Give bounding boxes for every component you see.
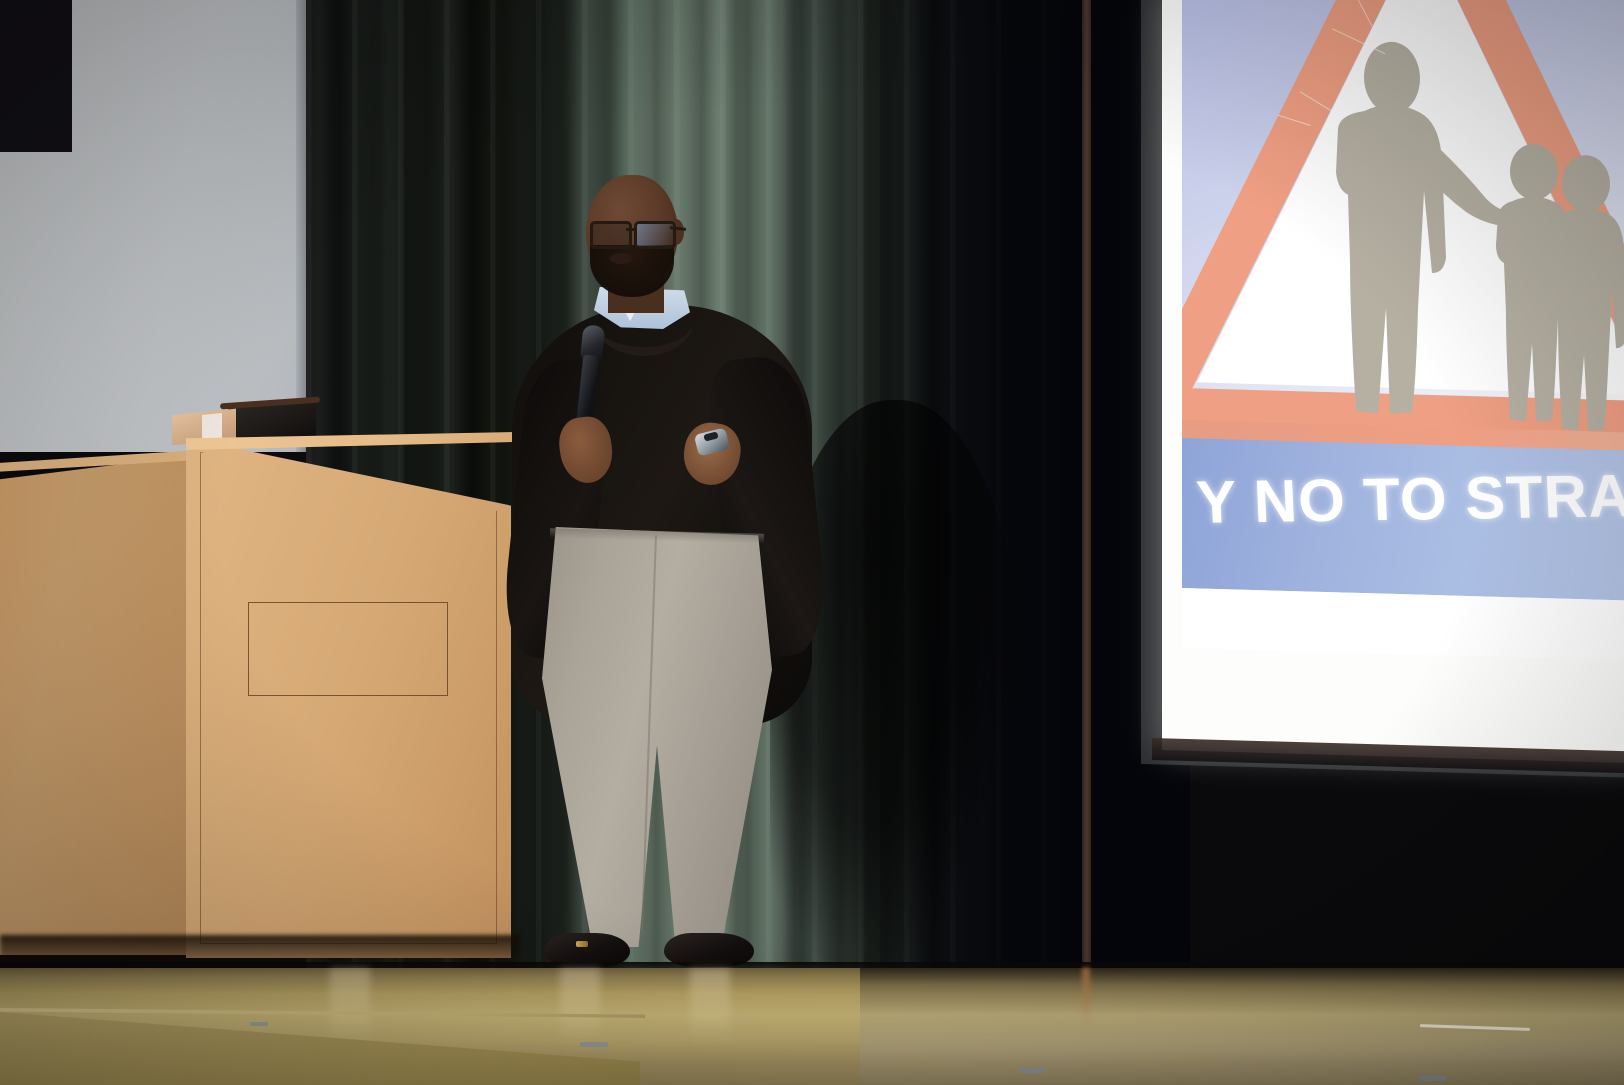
curtain-gap-strip: [1082, 0, 1091, 980]
podium-ground-shadow: [0, 935, 520, 965]
glasses-bridge: [626, 228, 636, 231]
slide-caption-text: Y NO TO STRA: [1195, 461, 1624, 537]
floor-mark: [1020, 1068, 1046, 1073]
projected-slide: Y NO TO STRA: [1182, 0, 1624, 661]
floor-highlight: [1420, 1024, 1530, 1031]
presenter-trousers: [542, 527, 772, 947]
presentation-photograph: Y NO TO STRA: [0, 0, 1624, 1085]
glasses-icon: [590, 221, 676, 245]
podium-plaque: [248, 602, 448, 696]
podium-front-inset-border: [200, 452, 497, 944]
shoe-buckle: [576, 941, 588, 947]
glasses-left-lens: [590, 221, 632, 249]
wall-opening: [0, 0, 72, 152]
floor-mark: [580, 1042, 608, 1047]
floor-mark: [1420, 1076, 1446, 1081]
presenter-mouth: [610, 253, 632, 264]
floor-mark: [250, 1022, 268, 1026]
podium-side-panel: [0, 455, 194, 955]
presenter: [498, 175, 828, 985]
